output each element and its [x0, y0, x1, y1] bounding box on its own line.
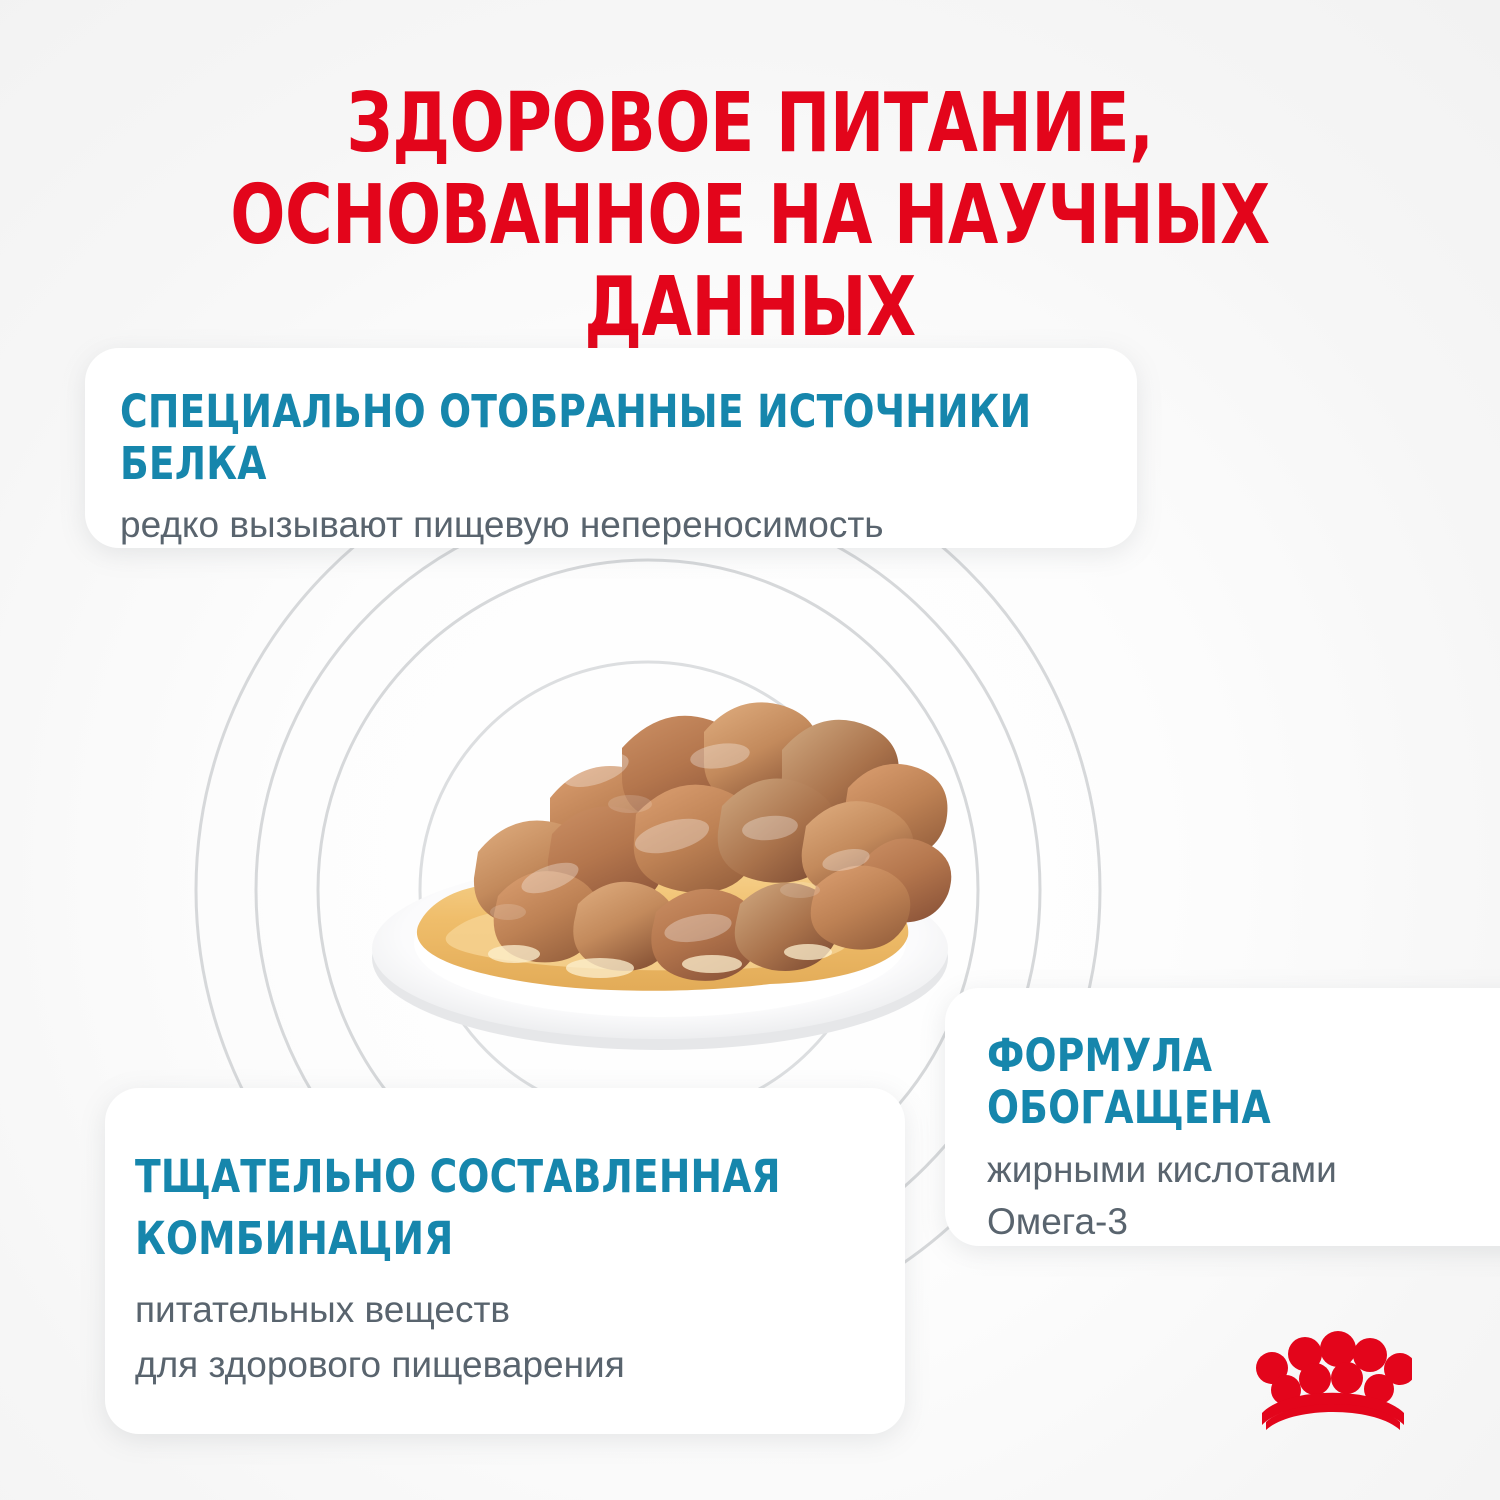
card-combo-body-line-2: для здорового пищеварения [135, 1344, 625, 1385]
title-line-1: ЗДОРОВОЕ ПИТАНИЕ, [347, 76, 1154, 171]
card-combo-body-line-1: питательных веществ [135, 1289, 510, 1330]
card-combo-heading-line-1: ТЩАТЕЛЬНО СОСТАВЛЕННАЯ [135, 1150, 781, 1203]
page-title: ЗДОРОВОЕ ПИТАНИЕ, ОСНОВАННОЕ НА НАУЧНЫХ … [90, 78, 1410, 354]
card-protein-sources: СПЕЦИАЛЬНО ОТОБРАННЫЕ ИСТОЧНИКИ БЕЛКА ре… [85, 348, 1137, 548]
title-line-2: ОСНОВАННОЕ НА НАУЧНЫХ ДАННЫХ [90, 170, 1410, 354]
royal-canin-crown-icon [1252, 1322, 1412, 1434]
card-nutrient-combination: ТЩАТЕЛЬНО СОСТАВЛЕННАЯ КОМБИНАЦИЯ питате… [105, 1088, 905, 1434]
card-combo-heading: ТЩАТЕЛЬНО СОСТАВЛЕННАЯ КОМБИНАЦИЯ [135, 1146, 851, 1270]
card-protein-body: редко вызывают пищевую непереносимость [120, 502, 1137, 548]
card-omega-body: жирными кислотами Омега-3 [987, 1144, 1500, 1248]
card-protein-heading: СПЕЦИАЛЬНО ОТОБРАННЫЕ ИСТОЧНИКИ БЕЛКА [120, 386, 1066, 490]
card-omega-body-line-2: Омега-3 [987, 1201, 1128, 1242]
poster-canvas: ЗДОРОВОЕ ПИТАНИЕ, ОСНОВАННОЕ НА НАУЧНЫХ … [0, 0, 1500, 1500]
card-omega-body-line-1: жирными кислотами [987, 1149, 1337, 1190]
card-omega-heading: ФОРМУЛА ОБОГАЩЕНА [987, 1030, 1500, 1134]
card-omega-formula: ФОРМУЛА ОБОГАЩЕНА жирными кислотами Омег… [945, 988, 1500, 1246]
card-combo-body: питательных веществ для здорового пищева… [135, 1282, 905, 1392]
card-combo-heading-line-2: КОМБИНАЦИЯ [135, 1212, 453, 1265]
product-food-image [300, 560, 1020, 1080]
